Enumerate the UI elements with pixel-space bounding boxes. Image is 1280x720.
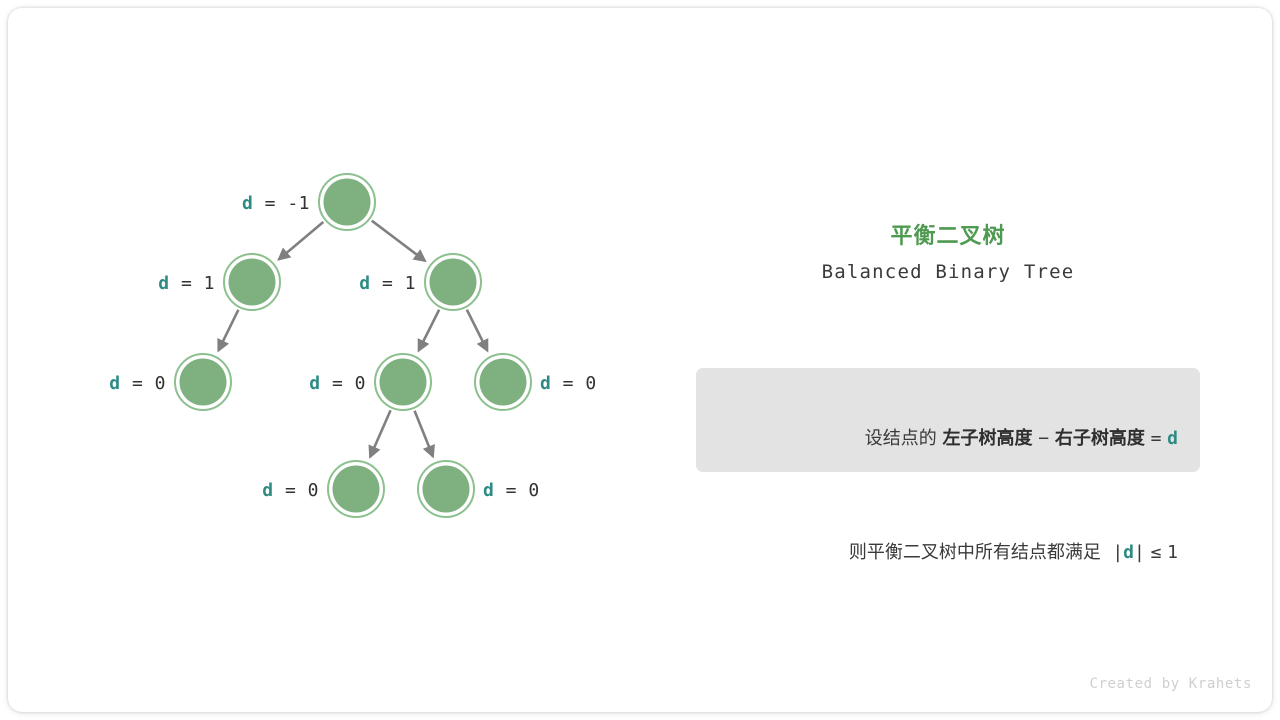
- tree-node-disc: [380, 359, 427, 406]
- binary-tree-diagram: d = -1d = 1d = 1d = 0d = 0d = 0d = 0d = …: [0, 0, 660, 720]
- formula-equals-sign: =: [1151, 428, 1162, 449]
- tree-node-disc: [423, 466, 470, 513]
- tree-node-n3: [425, 254, 481, 310]
- label-equals: =: [253, 193, 287, 214]
- tree-node-label-n1: d = -1: [0, 193, 310, 214]
- screenshot-root: d = -1d = 1d = 1d = 0d = 0d = 0d = 0d = …: [0, 0, 1280, 720]
- tree-edge-n1-n2: [279, 222, 324, 259]
- label-variable: d: [262, 480, 273, 501]
- tree-node-disc: [324, 179, 371, 226]
- tree-edge-n1-n3: [372, 221, 425, 261]
- tree-edge-n5-n7: [370, 410, 390, 457]
- tree-node-n8: [418, 461, 474, 517]
- label-value: 0: [585, 373, 596, 394]
- tree-edge-n2-n4: [218, 310, 238, 351]
- page-title-cn: 平衡二叉树: [696, 222, 1200, 252]
- tree-node-label-n6: d = 0: [540, 373, 597, 394]
- formula-abs-bar-close: |: [1134, 542, 1145, 563]
- label-value: 0: [355, 373, 366, 394]
- tree-node-disc: [333, 466, 380, 513]
- formula-variable-d: d: [1167, 428, 1178, 449]
- label-variable: d: [359, 273, 370, 294]
- label-equals: =: [551, 373, 585, 394]
- label-variable: d: [309, 373, 320, 394]
- tree-node-label-n3: d = 1: [0, 273, 416, 294]
- formula-right-subtree-height: 右子树高度: [1055, 428, 1145, 449]
- label-variable: d: [483, 480, 494, 501]
- formula-abs-bar-open: |: [1112, 542, 1123, 563]
- label-variable: d: [540, 373, 551, 394]
- formula-leq-sign: ≤: [1151, 542, 1162, 563]
- page-title-en: Balanced Binary Tree: [696, 261, 1200, 283]
- tree-node-label-n7: d = 0: [0, 480, 319, 501]
- tree-node-n5: [375, 354, 431, 410]
- label-equals: =: [321, 373, 355, 394]
- formula-left-subtree-height: 左子树高度: [943, 428, 1033, 449]
- tree-edge-n3-n5: [419, 310, 439, 351]
- formula-box: 设结点的 左子树高度 − 右子树高度 = d 则平衡二叉树中所有结点都满足 |d…: [696, 368, 1200, 472]
- formula-line-1: 设结点的 左子树高度 − 右子树高度 = d: [718, 382, 1178, 496]
- credit-text: Created by Krahets: [1089, 676, 1252, 692]
- info-panel: 平衡二叉树 Balanced Binary Tree: [696, 222, 1200, 283]
- tree-edge-layer: [218, 221, 487, 457]
- formula-prefix-2: 则平衡二叉树中所有结点都满足: [849, 542, 1101, 563]
- tree-svg: [0, 0, 660, 720]
- label-value: 0: [528, 480, 539, 501]
- formula-minus-sign: −: [1038, 428, 1049, 449]
- label-equals: =: [274, 480, 308, 501]
- label-equals: =: [371, 273, 405, 294]
- label-variable: d: [242, 193, 253, 214]
- formula-prefix-1: 设结点的: [865, 428, 937, 449]
- formula-bound-value: 1: [1167, 542, 1178, 563]
- tree-node-n6: [475, 354, 531, 410]
- tree-node-n7: [328, 461, 384, 517]
- tree-node-layer: [175, 174, 531, 517]
- tree-node-label-n8: d = 0: [483, 480, 540, 501]
- label-value: -1: [287, 193, 310, 214]
- tree-node-disc: [480, 359, 527, 406]
- formula-variable-d-abs: d: [1123, 542, 1134, 563]
- tree-node-n1: [319, 174, 375, 230]
- tree-edge-n5-n8: [415, 411, 433, 457]
- formula-line-2: 则平衡二叉树中所有结点都满足 |d| ≤ 1: [718, 496, 1178, 610]
- label-equals: =: [494, 480, 528, 501]
- label-value: 0: [308, 480, 319, 501]
- tree-node-label-n5: d = 0: [0, 373, 366, 394]
- tree-node-disc: [430, 259, 477, 306]
- label-value: 1: [405, 273, 416, 294]
- tree-edge-n3-n6: [467, 310, 487, 351]
